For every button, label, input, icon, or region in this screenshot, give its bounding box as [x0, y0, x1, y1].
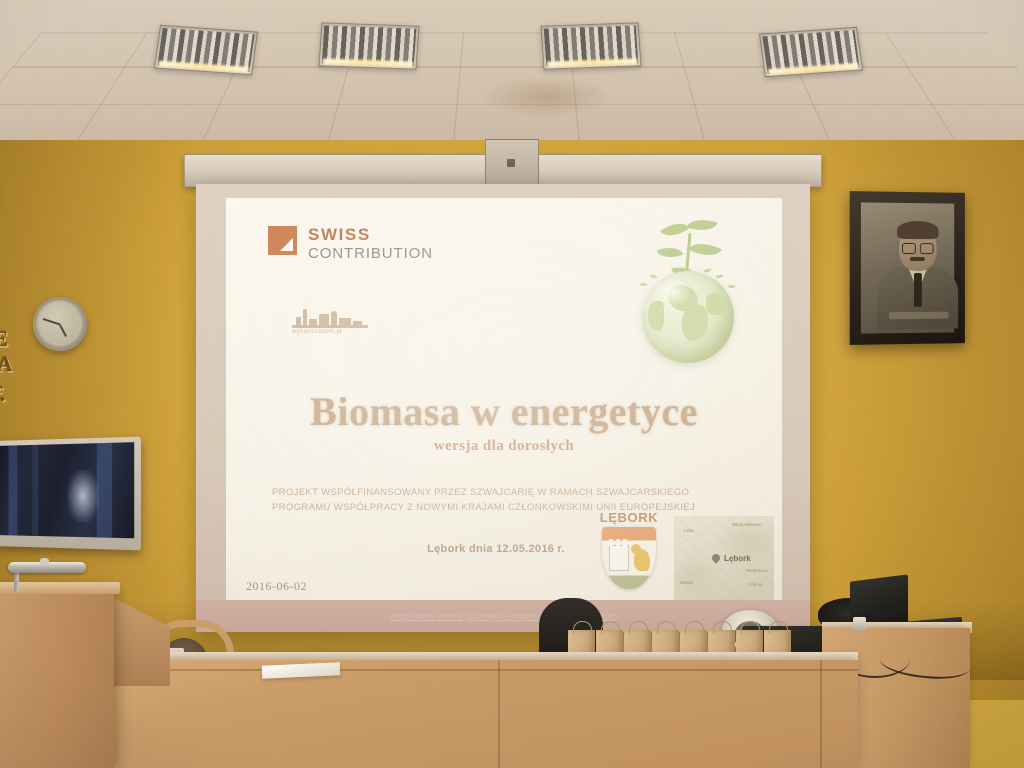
griffin-charge	[634, 549, 650, 571]
wall-text-line-2: MECHANICZA	[0, 352, 14, 377]
portrait-plaque	[889, 312, 948, 320]
globe-highlight	[653, 278, 692, 306]
wooden-lectern	[0, 588, 114, 768]
long-wooden-desk	[88, 660, 858, 768]
map-tick-label: Gdynia	[748, 582, 762, 587]
lamp-stem	[14, 570, 19, 592]
slide-title: Biomasa w energetyce	[226, 388, 782, 435]
bag-handle	[573, 621, 592, 634]
slide-body-text: PROJEKT WSPÓŁFINANSOWANY PRZEZ SZWAJCARI…	[272, 486, 752, 515]
slide-subtitle: wersja dla dorosłych	[226, 438, 782, 455]
projected-slide: SWISS CONTRIBUTION wybierzLebork.pl	[226, 198, 782, 610]
bag-handle	[629, 621, 648, 634]
bag-handle	[741, 621, 760, 634]
coat-of-arms-icon	[602, 527, 656, 589]
projector-screen-casing[interactable]	[184, 154, 822, 187]
conference-room-photo: ZE MECHANICZA im.prof. SWISS CONTRIBUTIO…	[0, 0, 1024, 768]
map-tick-label: Słupsk	[680, 580, 694, 585]
map-tick-label: Wejherowo	[746, 568, 768, 573]
map-pin-icon	[710, 552, 721, 563]
bag-handle	[713, 621, 732, 634]
small-cup-on-podium[interactable]	[853, 617, 866, 632]
television-screen	[0, 442, 134, 538]
plant-leaf	[657, 242, 684, 262]
clock-hour-hand	[59, 325, 67, 337]
suspended-ceiling	[0, 0, 1024, 155]
clock-minute-hand	[43, 318, 61, 325]
wall-clock	[33, 297, 87, 351]
ceiling-light-fixture	[759, 27, 863, 77]
ceiling-stain	[481, 76, 611, 118]
wall-mounted-television	[0, 437, 141, 551]
bag-handle	[657, 621, 676, 634]
map-tick-label: Władysławowo	[732, 522, 762, 527]
wybierz-lebork-logo: wybierzLebork.pl	[292, 306, 372, 335]
castle-charge	[609, 545, 629, 571]
slide-date-stamp: 2016-06-02	[246, 579, 307, 594]
globe-with-plant-graphic	[628, 212, 748, 367]
swiss-logo-subtitle: CONTRIBUTION	[308, 246, 433, 262]
bag-handle	[769, 621, 788, 634]
screen-control-box[interactable]	[485, 139, 539, 185]
location-map: Łeba Władysławowo Wejherowo Gdynia Słups…	[674, 516, 774, 602]
map-tick-label: Łeba	[684, 528, 694, 533]
projector-screen: SWISS CONTRIBUTION wybierzLebork.pl	[196, 184, 810, 632]
swiss-contribution-logo: SWISS CONTRIBUTION	[268, 226, 433, 262]
plant-leaf	[660, 216, 690, 243]
town-skyline-icon	[292, 306, 372, 328]
slide-body-line-2: PROGRAMU WSPÓŁPRACY Z NOWYMI KRAJAMI CZŁ…	[272, 501, 752, 516]
globe-icon	[642, 271, 734, 363]
portrait-moustache	[910, 257, 925, 261]
lamp-knob[interactable]	[40, 558, 49, 565]
desk-edge	[88, 669, 858, 671]
slide-body-line-1: PROJEKT WSPÓŁFINANSOWANY PRZEZ SZWAJCARI…	[272, 486, 752, 501]
lebork-arms-label: LĘBORK	[594, 510, 664, 525]
map-pin-label: Lębork	[724, 554, 751, 563]
clock-face	[38, 302, 82, 346]
portrait-glasses-icon	[902, 243, 934, 252]
bag-handle	[685, 621, 704, 634]
television-image-blob	[67, 470, 99, 523]
bag-handle	[601, 621, 620, 634]
portrait-tie	[914, 273, 922, 307]
desk-panel-seam	[498, 660, 500, 768]
wall-text-line-3: im.prof.	[0, 382, 6, 407]
swiss-logo-title: SWISS	[308, 226, 433, 244]
lebork-coat-of-arms-block: LĘBORK	[594, 510, 664, 589]
wall-text-line-1: ZE	[0, 326, 10, 352]
swiss-flag-icon	[268, 226, 297, 255]
desk-panel-seam	[820, 660, 822, 768]
portrait-hair	[897, 221, 939, 239]
framed-portrait	[850, 191, 965, 345]
ceiling-light-fixture	[154, 25, 258, 75]
ceiling-light-fixture	[540, 22, 641, 69]
plant-leaf	[688, 236, 722, 263]
town-logo-url: wybierzLebork.pl	[292, 329, 372, 335]
ceiling-light-fixture	[318, 22, 419, 69]
portrait-image	[861, 202, 954, 333]
